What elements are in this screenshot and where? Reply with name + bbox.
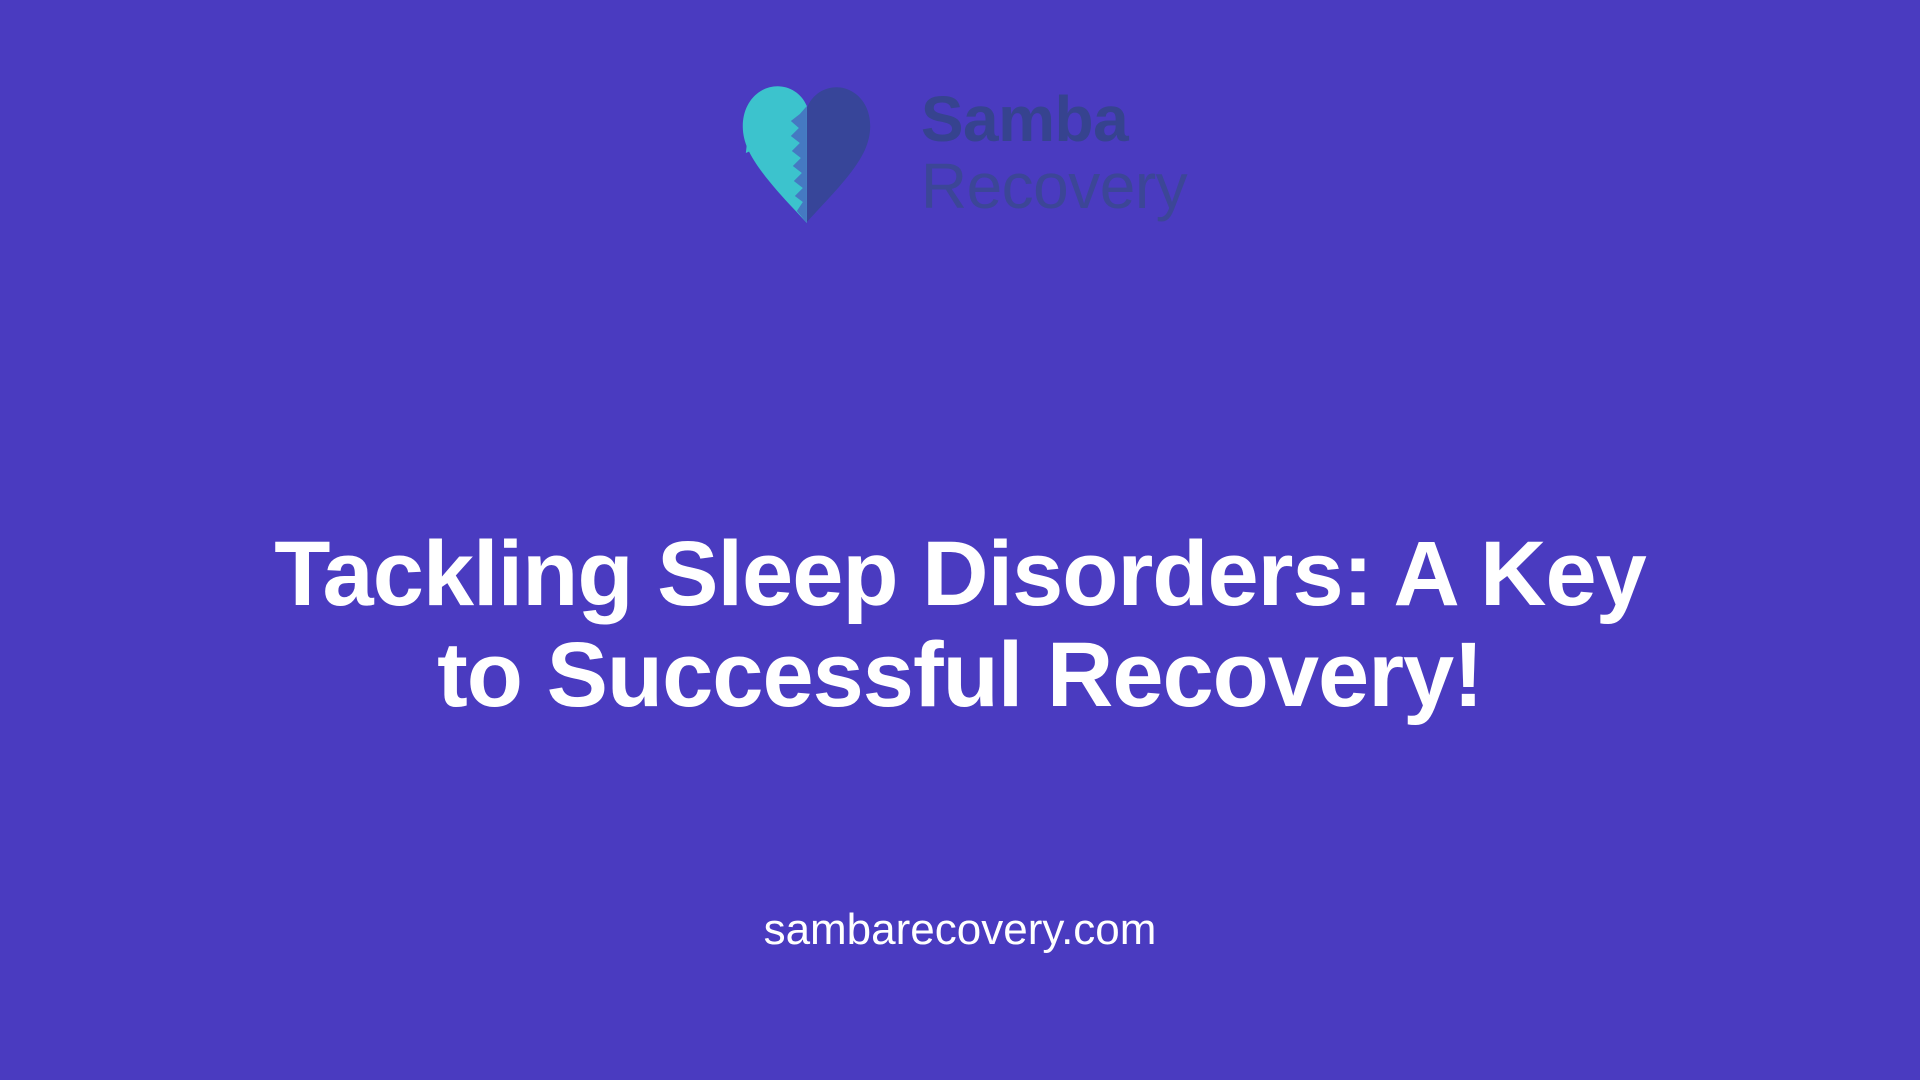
social-share-card: Samba Recovery Tackling Sleep Disorders:… — [0, 0, 1920, 1080]
page-title: Tackling Sleep Disorders: A Key to Succe… — [210, 524, 1710, 726]
brand-wordmark: Samba Recovery — [921, 87, 1187, 227]
brand-subname: Recovery — [921, 151, 1187, 223]
footer-website-url: sambarecovery.com — [764, 905, 1157, 955]
brand-name: Samba — [921, 87, 1187, 151]
broken-heart-logo-icon — [733, 78, 887, 236]
brand-lockup: Samba Recovery — [733, 78, 1187, 236]
